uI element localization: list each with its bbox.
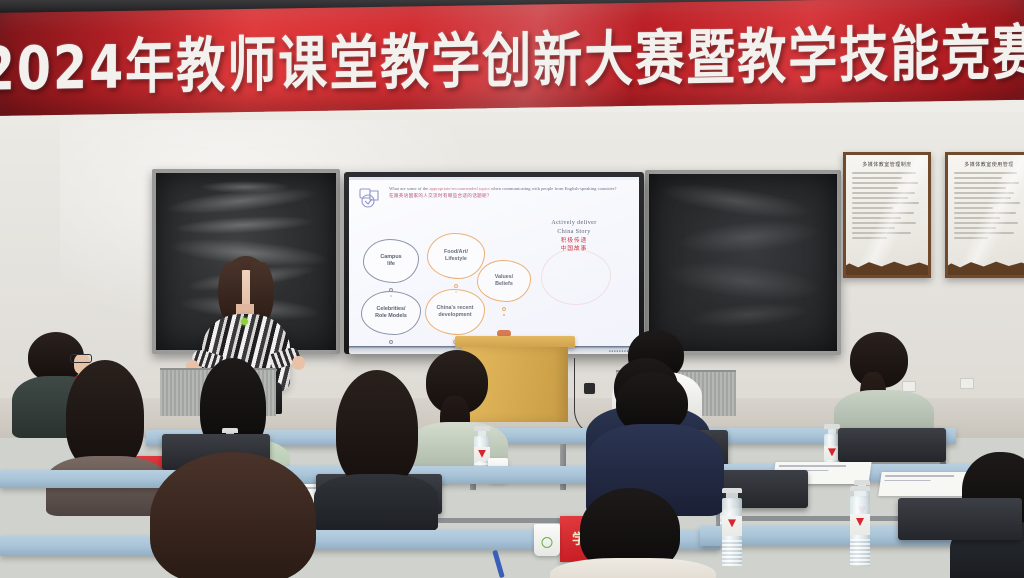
wall-poster-2: 多媒体教室使用管理 — [945, 152, 1024, 278]
bubble-label: China's recent development — [434, 305, 477, 320]
wall-poster-1: 多媒体教室管理制度 — [843, 152, 931, 278]
callout-line-2: China Story — [525, 228, 623, 237]
projector-screen[interactable]: What are some of the appropriate/recomme… — [344, 172, 644, 354]
question-chinese: 在跟英语国家的人交流时有哪些合适的话题呢？ — [389, 193, 633, 200]
slide-callout: Actively deliver China Story 积极传递 中国故事 — [525, 219, 623, 254]
topic-bubble-campus-life[interactable]: Campus life — [363, 239, 419, 283]
banner-title: 2024年教师课堂教学创新大赛暨教学技能竞赛 — [0, 5, 1024, 108]
bubble-tail-dot-small — [503, 314, 505, 316]
presentation-slide: What are some of the appropriate/recomme… — [349, 177, 639, 346]
audience-person-11 — [556, 488, 706, 578]
audience-person-10 — [140, 452, 326, 578]
callout-line-1: Actively deliver — [525, 219, 623, 228]
water-bottle[interactable] — [722, 488, 742, 566]
audience-person-8 — [316, 370, 436, 510]
lanyard — [492, 550, 505, 578]
question-part-2: when communicating with people from Engl… — [490, 186, 617, 191]
bubble-label: Celebrities/ Role Models — [372, 306, 410, 321]
wall-switch-plate-2 — [960, 378, 974, 389]
event-banner: 2024年教师课堂教学创新大赛暨教学技能竞赛 — [0, 0, 1024, 116]
poster-glass-glare — [846, 155, 928, 275]
question-highlight: appropriate/recommended topics — [429, 186, 489, 191]
presenter-right-hand — [292, 356, 305, 370]
bubble-tail-dot — [502, 307, 506, 311]
right-blackboard — [645, 170, 841, 355]
chair-back[interactable] — [898, 498, 1022, 540]
classroom-scene: 2024年教师课堂教学创新大赛暨教学技能竞赛 What are some of … — [0, 0, 1024, 578]
callout-chinese-2: 中国故事 — [525, 245, 623, 253]
bubble-tail-dot — [454, 284, 458, 288]
callout-chinese-1: 积极传递 — [525, 237, 623, 245]
bubble-label: Values/ Beliefs — [492, 274, 517, 289]
open-book-icon — [358, 186, 384, 210]
question-part-1: What are some of the — [389, 186, 429, 191]
presenter-pendant — [241, 318, 248, 325]
water-bottle[interactable] — [850, 486, 870, 566]
faint-bubble-outline — [541, 249, 611, 305]
bubble-tail-dot — [389, 340, 393, 344]
topic-bubble-celebrities-role-models[interactable]: Celebrities/ Role Models — [361, 291, 421, 335]
poster-glass-glare — [948, 155, 1024, 275]
bubble-label: Food/Art/ Lifestyle — [441, 249, 471, 264]
topic-bubble-chinas-recent-development[interactable]: China's recent development — [425, 289, 485, 335]
slide-top-accent — [349, 177, 639, 180]
slide-question: What are some of the appropriate/recomme… — [389, 186, 633, 199]
bubble-label: Campus life — [377, 254, 404, 269]
chair-back[interactable] — [838, 428, 946, 462]
topic-bubble-values-beliefs[interactable]: Values/ Beliefs — [477, 260, 531, 302]
